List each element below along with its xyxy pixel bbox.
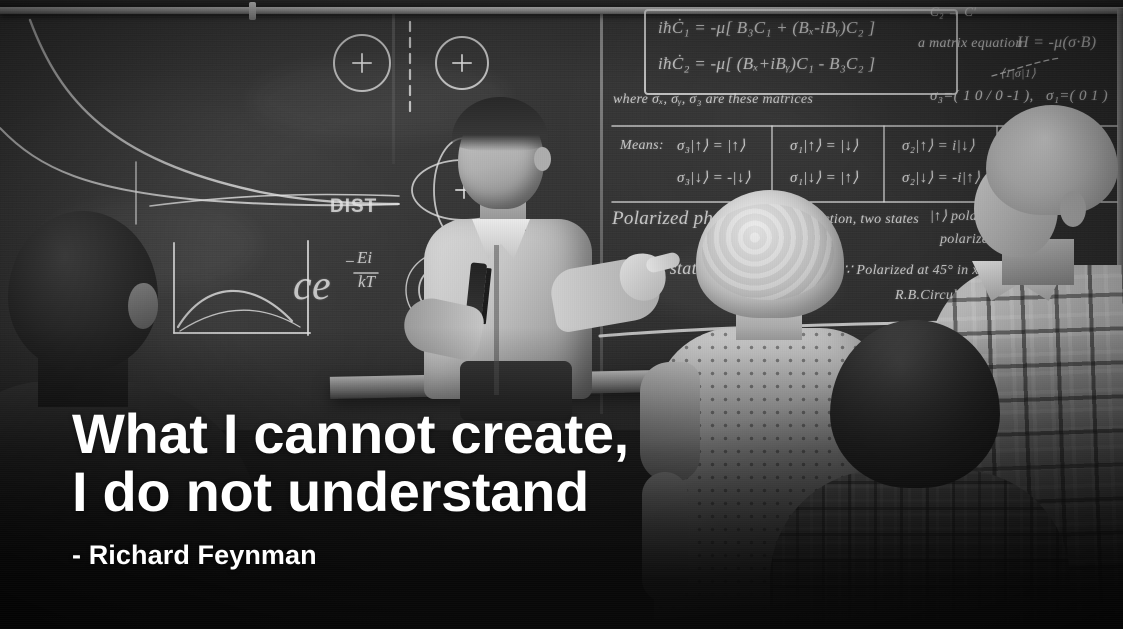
student-plaid-hair — [986, 105, 1118, 215]
fraction-bar — [354, 270, 384, 278]
quote-overlay: What I cannot create, I do not understan… — [72, 405, 629, 571]
board-top-shadow — [0, 0, 1123, 7]
equation-box — [645, 10, 965, 100]
student-dark-head — [830, 320, 1000, 488]
pointer-arrow — [990, 52, 1080, 82]
student-blonde-sleeve — [640, 362, 700, 482]
student-blonde-hair-waves — [702, 204, 834, 300]
feynman-shirt-placket — [494, 245, 499, 395]
student-foreground-dark — [800, 320, 1060, 629]
student-blonde-arm — [642, 472, 688, 602]
quote-image-canvas: DIST ce − Ei kT iħĊ₁ = -μ[ B₃C₁ + (Bₓ-iB… — [0, 0, 1123, 629]
feynman-hair — [452, 97, 548, 151]
student-plaid-ear — [1060, 191, 1086, 227]
feynman-ear — [534, 147, 551, 171]
student-dark-body-pattern — [770, 470, 1070, 629]
quote-attribution: - Richard Feynman — [72, 539, 629, 571]
student-left-ear — [128, 283, 158, 329]
quote-line-2: I do not understand — [72, 463, 629, 521]
feynman-figure — [402, 95, 664, 395]
quote-line-1: What I cannot create, — [72, 405, 629, 463]
